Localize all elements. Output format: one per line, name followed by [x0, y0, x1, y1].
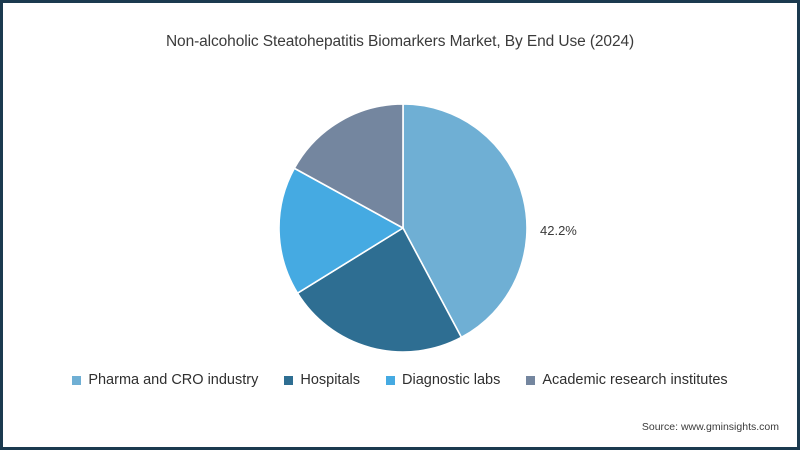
legend-item-pharma-and-cro-industry[interactable]: Pharma and CRO industry	[72, 373, 258, 388]
pie-slice-group	[279, 104, 527, 352]
legend-swatch-academic-research-institutes	[526, 376, 535, 385]
legend-swatch-hospitals	[284, 376, 293, 385]
pie-chart	[278, 103, 528, 353]
legend-swatch-diagnostic-labs	[386, 376, 395, 385]
legend-item-academic-research-institutes[interactable]: Academic research institutes	[526, 373, 727, 388]
legend-item-diagnostic-labs[interactable]: Diagnostic labs	[386, 373, 500, 388]
source-note: Source: www.gminsights.com	[642, 421, 779, 433]
legend-swatch-pharma-and-cro-industry	[72, 376, 81, 385]
pie-data-label-pharma-and-cro-industry: 42.2%	[540, 223, 577, 238]
legend-item-label: Diagnostic labs	[402, 373, 500, 388]
legend-item-label: Pharma and CRO industry	[88, 373, 258, 388]
legend-item-label: Academic research institutes	[542, 373, 727, 388]
legend-item-hospitals[interactable]: Hospitals	[284, 373, 360, 388]
chart-frame: Non-alcoholic Steatohepatitis Biomarkers…	[0, 0, 800, 450]
page-title: Non-alcoholic Steatohepatitis Biomarkers…	[3, 33, 797, 51]
pie-chart-svg	[278, 103, 528, 353]
legend: Pharma and CRO industryHospitalsDiagnost…	[3, 373, 797, 388]
legend-item-label: Hospitals	[300, 373, 360, 388]
